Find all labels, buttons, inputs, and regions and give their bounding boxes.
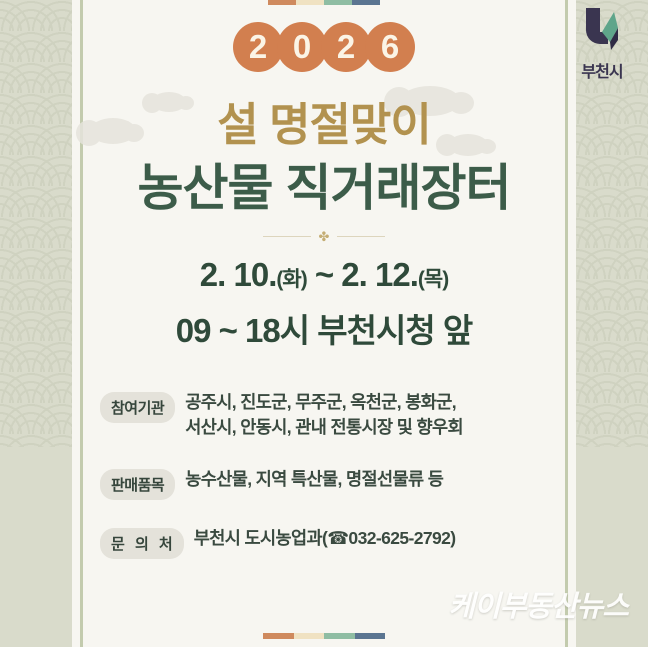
info-value-line: 서산시, 안동시, 관내 전통시장 및 향우회 — [185, 415, 463, 440]
solid-panel-left — [0, 447, 72, 647]
right-vertical-rule — [565, 0, 568, 647]
left-vertical-rule — [80, 0, 83, 647]
ornament-line-right — [337, 236, 385, 237]
date-range-separator: ~ — [307, 256, 342, 293]
info-list: 참여기관 공주시, 진도군, 무주군, 옥천군, 봉화군, 서산시, 안동시, … — [100, 390, 560, 585]
event-time-and-place: 09 ~ 18시 부천시청 앞 — [88, 304, 560, 352]
headline-line-2: 농산물 직거래장터 — [88, 148, 560, 220]
info-value: 농수산물, 지역 특산물, 명절선물류 등 — [185, 467, 443, 492]
poster-content: 2 0 2 6 설 명절맞이 농산물 직거래장터 ✤ 2. 10.(화) ~ 2… — [88, 0, 560, 647]
date-start-weekday: (화) — [276, 268, 306, 291]
info-row-participants: 참여기관 공주시, 진도군, 무주군, 옥천군, 봉화군, 서산시, 안동시, … — [100, 390, 560, 441]
date-end: 2. 12. — [341, 256, 418, 293]
left-panel-gap — [72, 0, 80, 647]
info-row-contact: 문 의 처 부천시 도시농업과(☎032-625-2792) — [100, 526, 560, 559]
year-digit: 2 — [321, 22, 371, 72]
watermark-text: 케이부동산뉴스 — [448, 583, 628, 625]
year-digit: 6 — [365, 22, 415, 72]
right-panel-gap — [568, 0, 576, 647]
info-value: 공주시, 진도군, 무주군, 옥천군, 봉화군, 서산시, 안동시, 관내 전통… — [185, 390, 463, 441]
info-value-line: 공주시, 진도군, 무주군, 옥천군, 봉화군, — [185, 390, 463, 415]
logo-city-name: 부천시 — [570, 58, 634, 82]
info-label: 판매품목 — [100, 469, 175, 500]
date-start: 2. 10. — [200, 256, 277, 293]
seigaiha-pattern-left — [0, 0, 72, 447]
right-wave-panel — [576, 0, 648, 647]
info-row-products: 판매품목 농수산물, 지역 특산물, 명절선물류 등 — [100, 467, 560, 500]
year-digit: 2 — [233, 22, 283, 72]
bucheon-city-logo: 부천시 — [570, 6, 634, 82]
event-date: 2. 10.(화) ~ 2. 12.(목) — [88, 256, 560, 294]
year-digit: 0 — [277, 22, 327, 72]
ornament-line-left — [263, 236, 311, 237]
promotional-poster: 2 0 2 6 설 명절맞이 농산물 직거래장터 ✤ 2. 10.(화) ~ 2… — [0, 0, 648, 647]
year-badge: 2 0 2 6 — [88, 22, 560, 72]
info-label: 문 의 처 — [100, 528, 184, 559]
left-wave-panel — [0, 0, 72, 647]
bucheon-logo-mark-icon — [580, 6, 624, 56]
info-value-line: 부천시 도시농업과(☎032-625-2792) — [194, 526, 456, 551]
flower-ornament-icon: ✤ — [319, 230, 330, 243]
info-label: 참여기관 — [100, 392, 175, 423]
info-value: 부천시 도시농업과(☎032-625-2792) — [194, 526, 456, 551]
headline-line-1: 설 명절맞이 — [88, 88, 560, 153]
date-end-weekday: (목) — [418, 268, 448, 291]
info-value-line: 농수산물, 지역 특산물, 명절선물류 등 — [185, 467, 443, 492]
ornament-divider: ✤ — [88, 230, 560, 243]
